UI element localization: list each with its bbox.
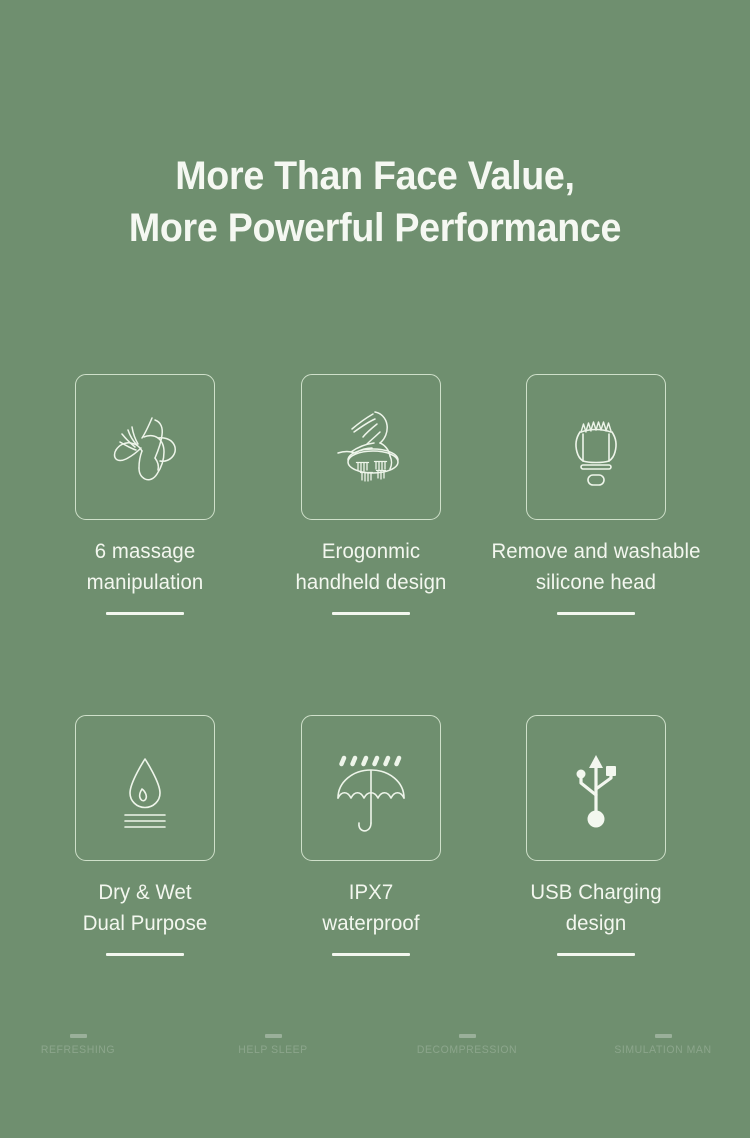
caption-underline bbox=[106, 612, 184, 615]
footer-benefit-strip: REFRESHING HELP SLEEP DECOMPRESSION SIMU… bbox=[0, 1034, 750, 1074]
footer-dash-icon bbox=[459, 1034, 476, 1038]
massage-hand-icon bbox=[92, 394, 198, 500]
footer-item-decompression: DECOMPRESSION bbox=[382, 1034, 552, 1056]
feature-item-ergonomic-handheld: Erogonmic handheld design bbox=[258, 374, 484, 615]
rain-drops bbox=[342, 758, 400, 764]
caption-line-2: silicone head bbox=[486, 567, 705, 598]
caption-line-1: 6 massage bbox=[35, 536, 254, 567]
footer-dash-icon bbox=[70, 1034, 87, 1038]
page-title: More Than Face Value, More Powerful Perf… bbox=[23, 150, 728, 254]
icon-box bbox=[301, 374, 441, 520]
feature-item-ipx7-waterproof: IPX7 waterproof bbox=[258, 715, 484, 956]
caption-underline bbox=[557, 953, 635, 956]
footer-label: HELP SLEEP bbox=[192, 1044, 354, 1056]
feature-caption: IPX7 waterproof bbox=[261, 877, 480, 939]
umbrella-rain-icon bbox=[318, 735, 424, 841]
caption-underline bbox=[557, 612, 635, 615]
icon-box bbox=[75, 374, 215, 520]
page-title-line-2: More Powerful Performance bbox=[23, 202, 728, 254]
caption-line-1: Remove and washable bbox=[486, 536, 705, 567]
caption-line-1: Erogonmic bbox=[261, 536, 480, 567]
icon-box bbox=[526, 715, 666, 861]
feature-item-massage-manipulation: 6 massage manipulation bbox=[32, 374, 258, 615]
feature-item-washable-silicone-head: Remove and washable silicone head bbox=[483, 374, 709, 615]
feature-caption: 6 massage manipulation bbox=[35, 536, 254, 598]
footer-label: DECOMPRESSION bbox=[386, 1044, 548, 1056]
feature-caption: Erogonmic handheld design bbox=[261, 536, 480, 598]
water-droplet-icon bbox=[92, 735, 198, 841]
caption-line-1: Dry & Wet bbox=[35, 877, 254, 908]
feature-item-dry-wet-dual-purpose: Dry & Wet Dual Purpose bbox=[32, 715, 258, 956]
feature-caption: Dry & Wet Dual Purpose bbox=[35, 877, 254, 939]
page-title-line-1: More Than Face Value, bbox=[23, 150, 728, 202]
caption-underline bbox=[332, 953, 410, 956]
caption-line-1: USB Charging bbox=[486, 877, 705, 908]
feature-grid: 6 massage manipulation bbox=[0, 374, 750, 1056]
feature-row-2: Dry & Wet Dual Purpose bbox=[0, 715, 750, 1056]
feature-row-1: 6 massage manipulation bbox=[0, 374, 750, 715]
footer-item-refreshing: REFRESHING bbox=[0, 1034, 163, 1056]
footer-dash-icon bbox=[655, 1034, 672, 1038]
hand-holding-massager-icon bbox=[318, 394, 424, 500]
caption-line-1: IPX7 bbox=[261, 877, 480, 908]
footer-label: REFRESHING bbox=[0, 1044, 159, 1056]
footer-label: SIMULATION MAN bbox=[582, 1044, 744, 1056]
icon-box bbox=[526, 374, 666, 520]
footer-dash-icon bbox=[265, 1034, 282, 1038]
icon-box bbox=[75, 715, 215, 861]
usb-icon bbox=[543, 735, 649, 841]
caption-line-2: design bbox=[486, 908, 705, 939]
feature-item-usb-charging: USB Charging design bbox=[483, 715, 709, 956]
caption-underline bbox=[106, 953, 184, 956]
caption-line-2: Dual Purpose bbox=[35, 908, 254, 939]
detachable-silicone-head-icon bbox=[543, 394, 649, 500]
caption-line-2: handheld design bbox=[261, 567, 480, 598]
product-feature-infographic: { "theme": { "background": "#6f8f6f", "t… bbox=[0, 0, 750, 1138]
footer-item-simulation-man: SIMULATION MAN bbox=[578, 1034, 748, 1056]
caption-line-2: waterproof bbox=[261, 908, 480, 939]
footer-item-help-sleep: HELP SLEEP bbox=[188, 1034, 358, 1056]
caption-line-2: manipulation bbox=[35, 567, 254, 598]
feature-caption: Remove and washable silicone head bbox=[486, 536, 705, 598]
feature-caption: USB Charging design bbox=[486, 877, 705, 939]
icon-box bbox=[301, 715, 441, 861]
caption-underline bbox=[332, 612, 410, 615]
